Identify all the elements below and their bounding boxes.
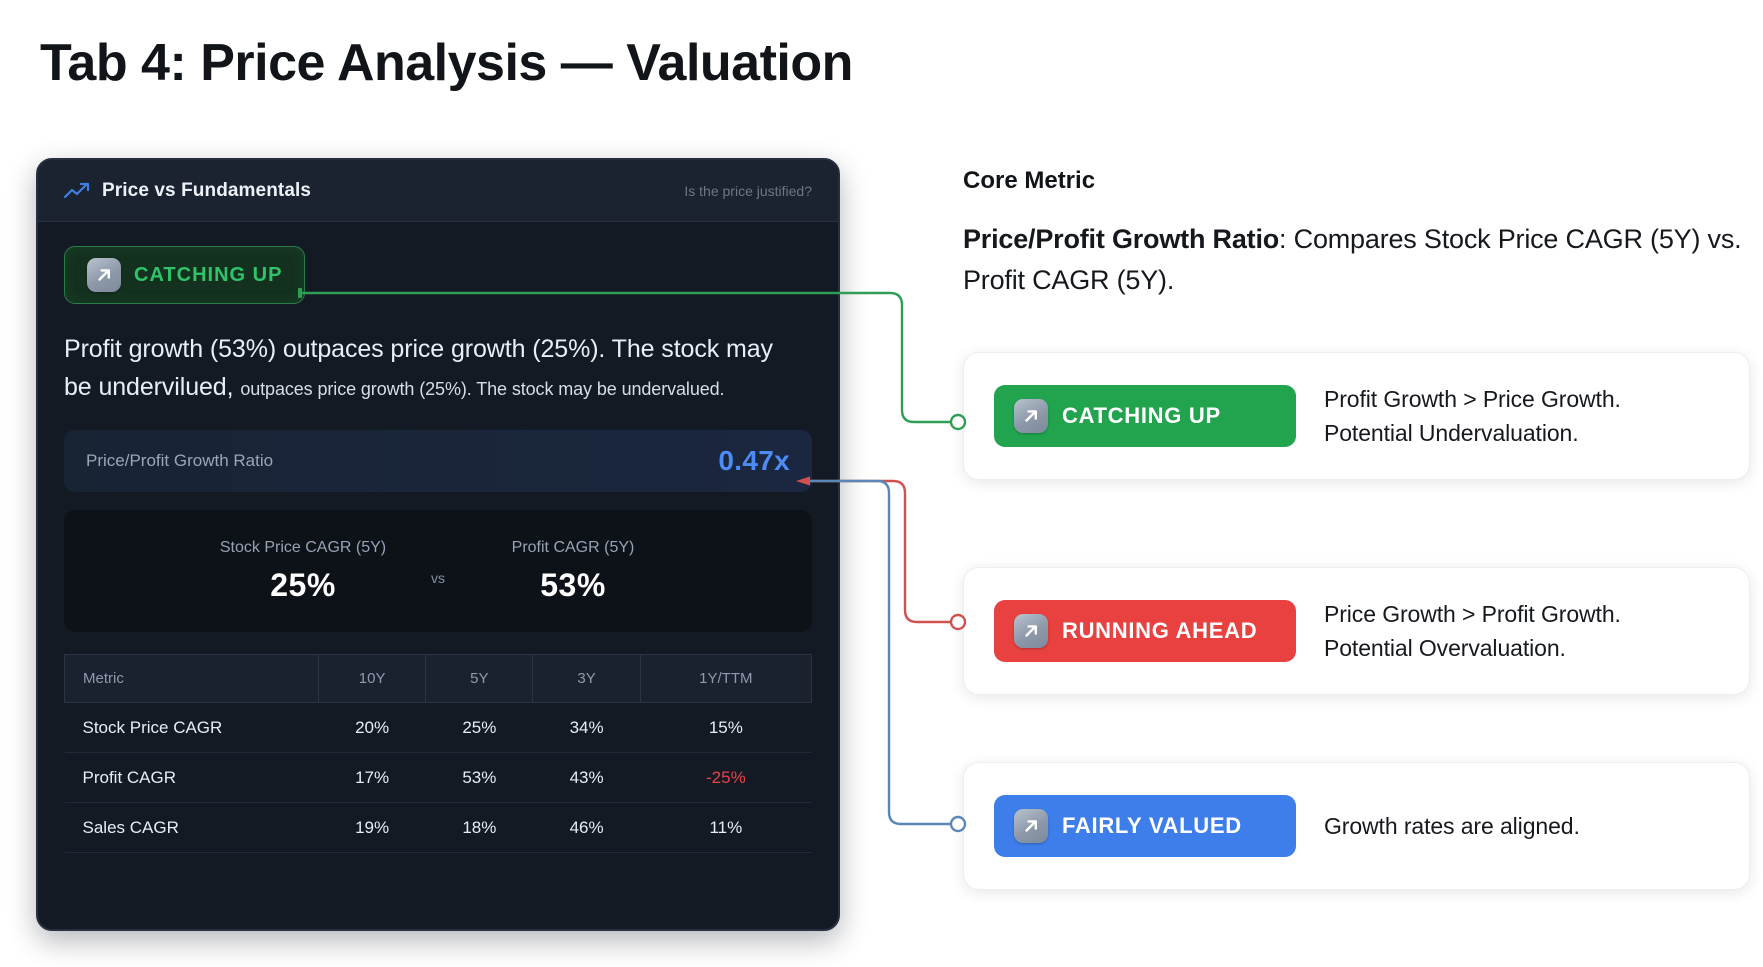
table-row: Sales CAGR 19% 18% 46% 11%	[65, 803, 812, 853]
arrow-up-right-icon	[1014, 614, 1048, 648]
legend-desc-line-1: Price Growth > Profit Growth.	[1324, 601, 1621, 627]
table-row: Stock Price CAGR 20% 25% 34% 15%	[65, 703, 812, 753]
cell-5y: 18%	[426, 803, 533, 853]
card-title: Price vs Fundamentals	[102, 180, 311, 202]
col-1y: 1Y/TTM	[640, 655, 811, 703]
legend-pill-label: CATCHING UP	[1062, 403, 1221, 429]
table-row: Profit CAGR 17% 53% 43% -25%	[65, 753, 812, 803]
cell-metric: Stock Price CAGR	[65, 703, 319, 753]
cagr-left-value: 25%	[198, 567, 408, 604]
card-header: Price vs Fundamentals Is the price justi…	[38, 160, 838, 222]
arrow-up-right-icon	[87, 258, 121, 292]
cell-metric: Sales CAGR	[65, 803, 319, 853]
cagr-table: Metric 10Y 5Y 3Y 1Y/TTM Stock Price CAGR…	[64, 654, 812, 853]
narrative-line-2-small: outpaces price growth (25%). The stock m…	[240, 379, 724, 399]
narrative-line-2-bold: be undervilued,	[64, 373, 233, 401]
core-metric-heading: Core Metric	[963, 167, 1095, 195]
table-body: Stock Price CAGR 20% 25% 34% 15% Profit …	[65, 703, 812, 853]
col-10y: 10Y	[319, 655, 426, 703]
screenshot-root: Tab 4: Price Analysis — Valuation Price …	[0, 0, 1763, 967]
table-header-row: Metric 10Y 5Y 3Y 1Y/TTM	[65, 655, 812, 703]
card-subtitle: Is the price justified?	[684, 183, 812, 199]
legend-desc-line-2: Potential Undervaluation.	[1324, 420, 1579, 446]
legend-pill[interactable]: CATCHING UP	[994, 385, 1296, 447]
cell-5y: 53%	[426, 753, 533, 803]
table-head: Metric 10Y 5Y 3Y 1Y/TTM	[65, 655, 812, 703]
legend-pill-label: FAIRLY VALUED	[1062, 813, 1242, 839]
cell-10y: 20%	[319, 703, 426, 753]
cell-10y: 19%	[319, 803, 426, 853]
ratio-label: Price/Profit Growth Ratio	[86, 451, 273, 471]
arrow-up-right-icon	[1014, 809, 1048, 843]
page-title: Tab 4: Price Analysis — Valuation	[40, 33, 853, 93]
cell-metric: Profit CAGR	[65, 753, 319, 803]
card-body: CATCHING UP Profit growth (53%) outpaces…	[38, 222, 838, 853]
cell-5y: 25%	[426, 703, 533, 753]
cagr-vs-label: vs	[408, 570, 468, 586]
trend-up-icon	[64, 182, 90, 200]
cagr-left-label: Stock Price CAGR (5Y)	[198, 539, 408, 557]
cell-1y: 15%	[640, 703, 811, 753]
narrative-line-1: Profit growth (53%) outpaces price growt…	[64, 335, 773, 363]
cell-3y: 34%	[533, 703, 640, 753]
col-3y: 3Y	[533, 655, 640, 703]
cell-1y: 11%	[640, 803, 811, 853]
legend-description: Growth rates are aligned.	[1324, 809, 1580, 843]
cell-3y: 43%	[533, 753, 640, 803]
price-vs-fundamentals-card: Price vs Fundamentals Is the price justi…	[36, 158, 840, 931]
legend-desc-line-1: Profit Growth > Price Growth.	[1324, 386, 1621, 412]
status-badge[interactable]: CATCHING UP	[64, 246, 305, 304]
cell-1y: -25%	[640, 753, 811, 803]
legend-description: Price Growth > Profit Growth. Potential …	[1324, 597, 1621, 665]
cell-10y: 17%	[319, 753, 426, 803]
price-profit-ratio-row: Price/Profit Growth Ratio 0.47x	[64, 430, 812, 492]
legend-card-fairly-valued[interactable]: FAIRLY VALUED Growth rates are aligned.	[963, 762, 1750, 890]
col-metric: Metric	[65, 655, 319, 703]
status-badge-label: CATCHING UP	[134, 264, 282, 287]
legend-pill[interactable]: FAIRLY VALUED	[994, 795, 1296, 857]
arrow-up-right-icon	[1014, 399, 1048, 433]
cagr-right: Profit CAGR (5Y) 53%	[468, 539, 678, 604]
cell-3y: 46%	[533, 803, 640, 853]
ratio-value: 0.47x	[718, 445, 790, 477]
cagr-right-value: 53%	[468, 567, 678, 604]
legend-desc-line-2: Potential Overvaluation.	[1324, 635, 1566, 661]
cagr-right-label: Profit CAGR (5Y)	[468, 539, 678, 557]
legend-description: Profit Growth > Price Growth. Potential …	[1324, 382, 1621, 450]
legend-card-catching-up[interactable]: CATCHING UP Profit Growth > Price Growth…	[963, 352, 1750, 480]
narrative-text: Profit growth (53%) outpaces price growt…	[64, 330, 812, 408]
legend-card-running-ahead[interactable]: RUNNING AHEAD Price Growth > Profit Grow…	[963, 567, 1750, 695]
col-5y: 5Y	[426, 655, 533, 703]
legend-desc-line-1: Growth rates are aligned.	[1324, 813, 1580, 839]
core-metric-paragraph: Price/Profit Growth Ratio: Compares Stoc…	[963, 219, 1753, 301]
legend-pill[interactable]: RUNNING AHEAD	[994, 600, 1296, 662]
cagr-left: Stock Price CAGR (5Y) 25%	[198, 539, 408, 604]
cagr-comparison: Stock Price CAGR (5Y) 25% vs Profit CAGR…	[64, 510, 812, 632]
core-metric-term: Price/Profit Growth Ratio	[963, 224, 1279, 254]
legend-pill-label: RUNNING AHEAD	[1062, 618, 1257, 644]
